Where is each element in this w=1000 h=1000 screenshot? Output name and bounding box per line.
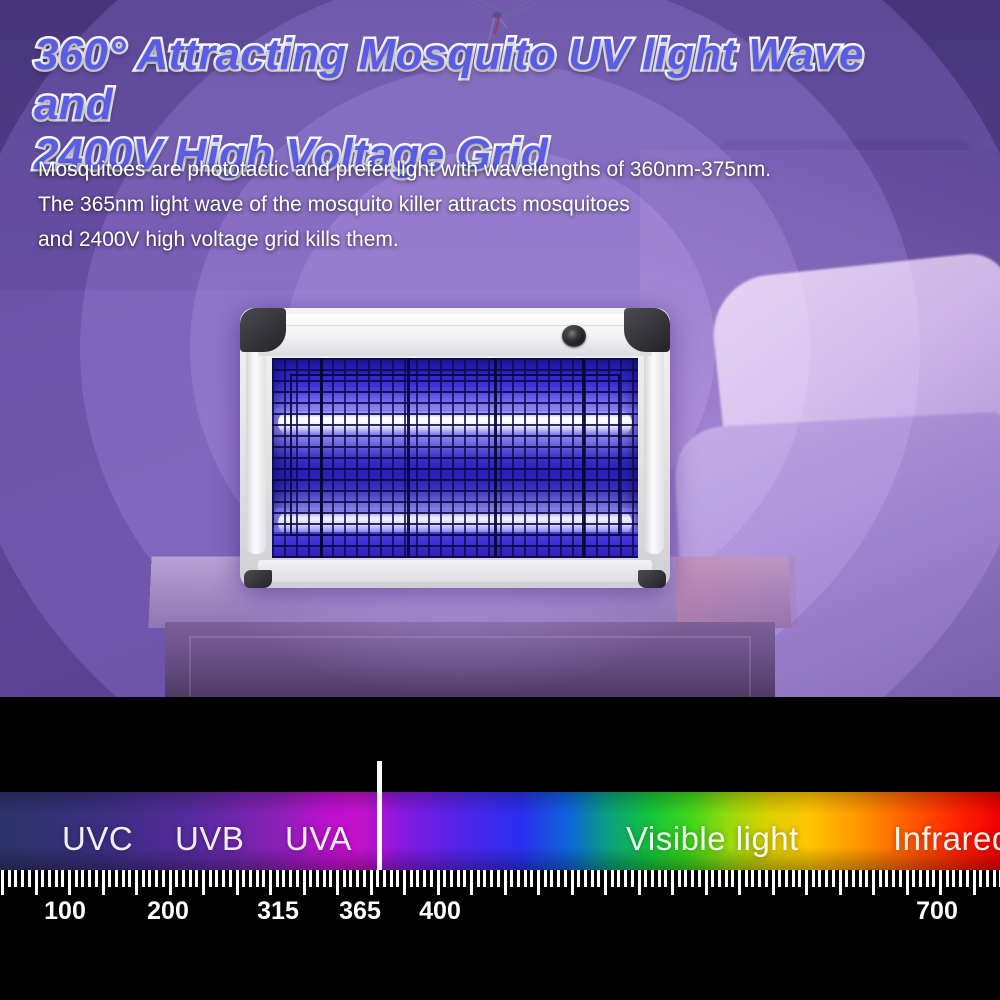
grid-support-bar: [320, 358, 323, 558]
ruler-tick-minor: [678, 870, 681, 887]
ruler-tick-minor: [443, 870, 446, 887]
ruler-tick-minor: [731, 870, 734, 887]
ruler-tick-minor: [792, 870, 795, 887]
ruler-tick-minor: [651, 870, 654, 887]
device-bottom-panel: [258, 560, 652, 582]
ruler-tick-major: [403, 870, 406, 895]
ruler-tick-minor: [624, 870, 627, 887]
ruler-tick-minor: [450, 870, 453, 887]
ruler-tick-minor: [229, 870, 232, 887]
ruler-tick-minor: [282, 870, 285, 887]
ruler-tick-minor: [852, 870, 855, 887]
ruler-tick-minor: [363, 870, 366, 887]
ruler-tick-minor: [276, 870, 279, 887]
ruler-tick-minor: [557, 870, 560, 887]
ruler-tick-major: [671, 870, 674, 895]
ruler-tick-minor: [597, 870, 600, 887]
ruler-tick-minor: [530, 870, 533, 887]
ruler-tick-major: [772, 870, 775, 895]
band-label-uvb: UVB: [175, 820, 244, 858]
ruler-tick-minor: [390, 870, 393, 887]
ruler-tick-minor: [510, 870, 513, 887]
ruler-tick-minor: [383, 870, 386, 887]
ruler-tick-minor: [195, 870, 198, 887]
ruler-tick-minor: [979, 870, 982, 887]
ruler-tick-major: [1, 870, 4, 895]
ruler-tick-minor: [859, 870, 862, 887]
ruler-tick-minor: [899, 870, 902, 887]
ruler-tick-minor: [691, 870, 694, 887]
ruler-tick-minor: [189, 870, 192, 887]
ruler-tick-major: [470, 870, 473, 895]
ruler-tick-minor: [778, 870, 781, 887]
ruler-tick-major: [705, 870, 708, 895]
ruler-tick-minor: [993, 870, 996, 887]
power-switch-button[interactable]: [562, 325, 586, 347]
ruler-tick-minor: [564, 870, 567, 887]
axis-label-100: 100: [44, 897, 86, 926]
band-label-infrared: Infrared: [893, 820, 1000, 858]
band-label-uva: UVA: [285, 820, 352, 858]
ruler-tick-minor: [55, 870, 58, 887]
ruler-tick-minor: [684, 870, 687, 887]
ruler-tick-major: [35, 870, 38, 895]
ruler-tick-major: [805, 870, 808, 895]
ruler-tick-major: [638, 870, 641, 895]
ruler-tick-minor: [376, 870, 379, 887]
ruler-tick-minor: [946, 870, 949, 887]
ruler-tick-minor: [658, 870, 661, 887]
band-label-visible-light: Visible light: [626, 820, 799, 858]
ruler-tick-minor: [349, 870, 352, 887]
axis-label-365: 365: [339, 897, 381, 926]
ruler-tick-minor: [41, 870, 44, 887]
ruler-tick-minor: [396, 870, 399, 887]
ruler-tick-minor: [912, 870, 915, 887]
ruler-tick-minor: [242, 870, 245, 887]
ruler-tick-minor: [497, 870, 500, 887]
ruler-tick-minor: [21, 870, 24, 887]
ruler-tick-minor: [818, 870, 821, 887]
ruler-tick-minor: [95, 870, 98, 887]
ruler-tick-minor: [162, 870, 165, 887]
ruler-tick-minor: [524, 870, 527, 887]
ruler-tick-minor: [745, 870, 748, 887]
ruler-tick-major: [738, 870, 741, 895]
ruler-tick-minor: [577, 870, 580, 887]
uv-mosquito-killer-device[interactable]: [240, 308, 670, 588]
ruler-tick-minor: [517, 870, 520, 887]
ruler-tick-minor: [879, 870, 882, 887]
ruler-tick-minor: [718, 870, 721, 887]
ruler-tick-minor: [222, 870, 225, 887]
ruler-tick-minor: [865, 870, 868, 887]
ruler-tick-major: [604, 870, 607, 895]
ruler-tick-minor: [28, 870, 31, 887]
ruler-tick-minor: [108, 870, 111, 887]
ruler-tick-minor: [463, 870, 466, 887]
ruler-tick-minor: [892, 870, 895, 887]
ruler-tick-minor: [209, 870, 212, 887]
ruler-tick-minor: [289, 870, 292, 887]
device-corner-top-left: [240, 308, 286, 352]
device-grid-window: [272, 358, 638, 558]
device-foot-bottom-right: [638, 570, 666, 588]
ruler-tick-minor: [952, 870, 955, 887]
ruler-tick-minor: [323, 870, 326, 887]
grid-frame: [290, 374, 620, 536]
ruler-tick-minor: [711, 870, 714, 887]
ruler-tick-minor: [296, 870, 299, 887]
ruler-tick-minor: [725, 870, 728, 887]
ruler-tick-minor: [664, 870, 667, 887]
ruler-tick-major: [269, 870, 272, 895]
wavelength-ruler: [0, 870, 1000, 896]
ruler-tick-minor: [617, 870, 620, 887]
axis-label-315: 315: [257, 897, 299, 926]
ruler-tick-minor: [430, 870, 433, 887]
ruler-tick-minor: [410, 870, 413, 887]
ruler-tick-minor: [256, 870, 259, 887]
ruler-tick-major: [102, 870, 105, 895]
ruler-tick-major: [336, 870, 339, 895]
ruler-tick-minor: [343, 870, 346, 887]
ruler-tick-minor: [81, 870, 84, 887]
ruler-tick-minor: [309, 870, 312, 887]
ruler-tick-major: [169, 870, 172, 895]
ruler-tick-minor: [644, 870, 647, 887]
axis-label-200: 200: [147, 897, 189, 926]
grid-support-bar: [407, 358, 410, 558]
ruler-tick-minor: [142, 870, 145, 887]
ruler-tick-major: [906, 870, 909, 895]
ruler-tick-minor: [751, 870, 754, 887]
ruler-tick-minor: [249, 870, 252, 887]
product-marketing-image: 360° Attracting Mosquito UV light Wave a…: [0, 0, 1000, 1000]
nightstand-body: [165, 622, 775, 697]
ruler-tick-major: [839, 870, 842, 895]
ruler-tick-minor: [215, 870, 218, 887]
ruler-tick-minor: [262, 870, 265, 887]
ruler-tick-minor: [832, 870, 835, 887]
ruler-tick-major: [504, 870, 507, 895]
ruler-tick-major: [135, 870, 138, 895]
spectrum-gradient-bar: [0, 792, 1000, 870]
ruler-tick-minor: [490, 870, 493, 887]
ruler-tick-minor: [423, 870, 426, 887]
device-side-right: [644, 342, 664, 554]
ruler-tick-minor: [966, 870, 969, 887]
ruler-tick-minor: [986, 870, 989, 887]
ruler-tick-minor: [698, 870, 701, 887]
ruler-tick-major: [437, 870, 440, 895]
ruler-tick-minor: [765, 870, 768, 887]
ruler-tick-minor: [416, 870, 419, 887]
ruler-tick-major: [202, 870, 205, 895]
ruler-tick-major: [571, 870, 574, 895]
ruler-tick-minor: [932, 870, 935, 887]
ruler-tick-minor: [584, 870, 587, 887]
ruler-tick-minor: [14, 870, 17, 887]
axis-label-400: 400: [419, 897, 461, 926]
ruler-tick-minor: [631, 870, 634, 887]
ruler-tick-major: [236, 870, 239, 895]
ruler-tick-minor: [812, 870, 815, 887]
ruler-tick-minor: [798, 870, 801, 887]
ruler-tick-minor: [919, 870, 922, 887]
ruler-tick-minor: [926, 870, 929, 887]
ruler-tick-minor: [128, 870, 131, 887]
grid-support-bar: [494, 358, 497, 558]
ruler-tick-minor: [356, 870, 359, 887]
device-top-panel: [258, 314, 652, 356]
device-corner-top-right: [624, 308, 670, 352]
ruler-tick-minor: [329, 870, 332, 887]
ruler-tick-minor: [825, 870, 828, 887]
ruler-tick-minor: [885, 870, 888, 887]
ruler-tick-minor: [959, 870, 962, 887]
ruler-tick-minor: [182, 870, 185, 887]
spectrum-chart: UVCUVBUVAVisible lightInfrared 100200315…: [0, 697, 1000, 1000]
ruler-tick-major: [872, 870, 875, 895]
ruler-tick-minor: [148, 870, 151, 887]
ruler-tick-minor: [845, 870, 848, 887]
ruler-tick-minor: [155, 870, 158, 887]
ruler-tick-minor: [61, 870, 64, 887]
ruler-tick-minor: [457, 870, 460, 887]
ruler-tick-major: [370, 870, 373, 895]
ruler-tick-minor: [175, 870, 178, 887]
ruler-tick-minor: [544, 870, 547, 887]
axis-label-700: 700: [916, 897, 958, 926]
ruler-tick-minor: [591, 870, 594, 887]
ruler-tick-minor: [785, 870, 788, 887]
ruler-tick-minor: [8, 870, 11, 887]
wavelength-marker-365: [377, 761, 382, 870]
grid-support-bar: [582, 358, 585, 558]
ruler-tick-minor: [758, 870, 761, 887]
ruler-tick-major: [537, 870, 540, 895]
ruler-tick-major: [973, 870, 976, 895]
product-photo-scene: 360° Attracting Mosquito UV light Wave a…: [0, 0, 1000, 697]
ruler-tick-minor: [48, 870, 51, 887]
ruler-tick-minor: [316, 870, 319, 887]
ruler-tick-major: [303, 870, 306, 895]
ruler-tick-minor: [88, 870, 91, 887]
ruler-tick-minor: [122, 870, 125, 887]
ruler-tick-minor: [550, 870, 553, 887]
ruler-tick-major: [939, 870, 942, 895]
ruler-tick-minor: [115, 870, 118, 887]
band-label-uvc: UVC: [62, 820, 133, 858]
ruler-tick-minor: [611, 870, 614, 887]
ruler-tick-major: [68, 870, 71, 895]
description-paragraph: Mosquitoes are phototactic and prefer li…: [38, 152, 898, 257]
ruler-tick-minor: [75, 870, 78, 887]
device-foot-bottom-left: [244, 570, 272, 588]
ruler-tick-minor: [483, 870, 486, 887]
ruler-tick-minor: [477, 870, 480, 887]
device-side-left: [246, 342, 266, 554]
